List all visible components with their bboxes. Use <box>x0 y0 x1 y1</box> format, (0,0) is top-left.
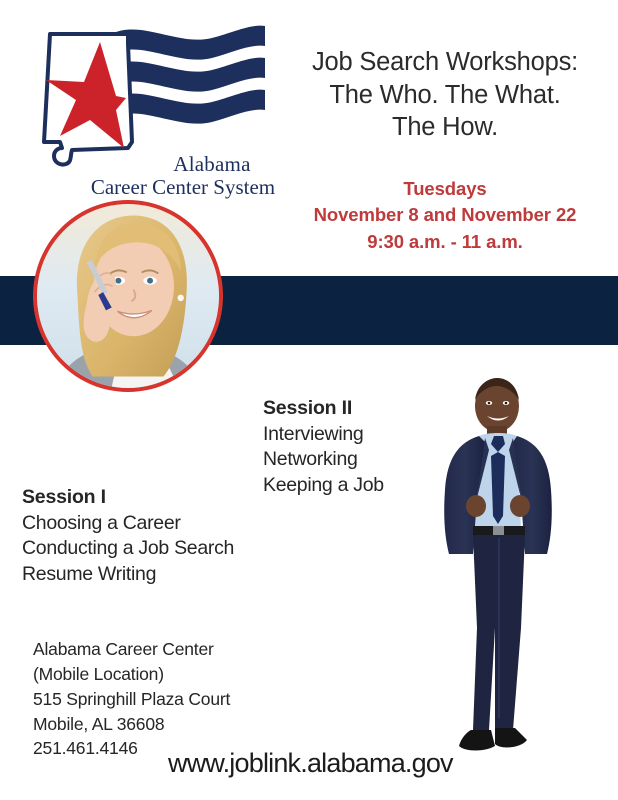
location-address: Alabama Career Center (Mobile Location) … <box>33 637 230 761</box>
session-1-block: Session I Choosing a Career Conducting a… <box>22 485 234 588</box>
flyer-page: Alabama Career Center System Job Search … <box>0 0 618 800</box>
man-in-suit-photo <box>425 378 597 768</box>
session-2-item-1: Interviewing <box>263 422 384 448</box>
dates-line-2: November 8 and November 22 <box>280 202 610 228</box>
session-2-heading: Session II <box>263 396 384 422</box>
session-1-item-1: Choosing a Career <box>22 511 234 537</box>
session-1-heading: Session I <box>22 485 234 511</box>
title-line-3: The How. <box>280 111 610 144</box>
title-line-2: The Who. The What. <box>280 79 610 112</box>
logo-wordmark: Alabama Career Center System <box>132 154 292 198</box>
dates-line-1: Tuesdays <box>280 176 610 202</box>
website-url[interactable]: www.joblink.alabama.gov <box>168 748 453 779</box>
alabama-career-center-logo: Alabama Career Center System <box>20 24 270 184</box>
address-line-2: (Mobile Location) <box>33 662 230 687</box>
woman-portrait-photo <box>33 200 223 392</box>
session-2-item-3: Keeping a Job <box>263 473 384 499</box>
flag-waves-icon <box>116 26 265 124</box>
session-2-block: Session II Interviewing Networking Keepi… <box>263 396 384 499</box>
session-2-item-2: Networking <box>263 447 384 473</box>
address-line-4: Mobile, AL 36608 <box>33 712 230 737</box>
logo-line-2: Career Center System <box>74 177 292 198</box>
session-1-item-2: Conducting a Job Search <box>22 536 234 562</box>
address-line-3: 515 Springhill Plaza Court <box>33 687 230 712</box>
event-dates: Tuesdays November 8 and November 22 9:30… <box>280 176 610 255</box>
flyer-title: Job Search Workshops: The Who. The What.… <box>280 46 610 144</box>
dates-line-3: 9:30 a.m. - 11 a.m. <box>280 229 610 255</box>
address-line-1: Alabama Career Center <box>33 637 230 662</box>
title-line-1: Job Search Workshops: <box>280 46 610 79</box>
logo-line-1: Alabama <box>132 154 292 175</box>
session-1-item-3: Resume Writing <box>22 562 234 588</box>
